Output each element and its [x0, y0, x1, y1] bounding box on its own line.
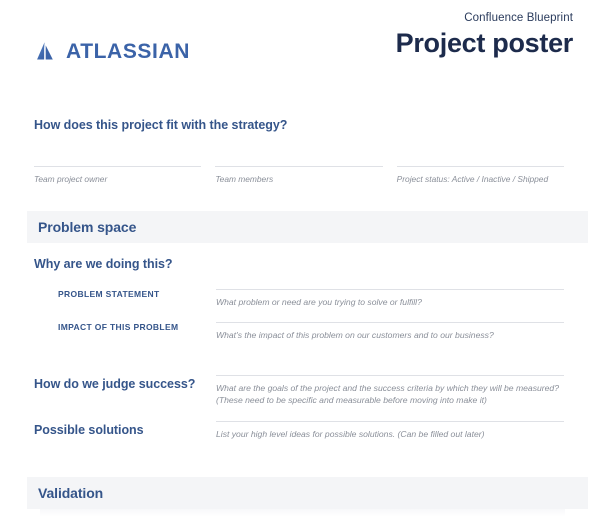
- project-poster-page: ATLASSIAN Confluence Blueprint Project p…: [0, 0, 600, 519]
- problem-statement-input[interactable]: What problem or need are you trying to s…: [216, 289, 564, 308]
- atlassian-logo: ATLASSIAN: [34, 40, 190, 63]
- judge-success-input[interactable]: What are the goals of the project and th…: [216, 375, 564, 407]
- section-band-validation: Validation: [27, 477, 588, 509]
- strategy-question-heading: How does this project fit with the strat…: [34, 118, 287, 132]
- row-problem-statement: PROBLEM STATEMENT What problem or need a…: [34, 289, 564, 308]
- atlassian-logo-icon: [34, 40, 57, 63]
- problem-statement-label: PROBLEM STATEMENT: [58, 289, 216, 299]
- placeholder-text: What problem or need are you trying to s…: [216, 296, 564, 308]
- blueprint-eyebrow: Confluence Blueprint: [396, 12, 573, 26]
- field-caption: Team members: [215, 174, 382, 185]
- row-label: How do we judge success?: [34, 375, 216, 391]
- page-bottom-shadow: [40, 509, 565, 517]
- placeholder-text: List your high level ideas for possible …: [216, 428, 564, 440]
- possible-solutions-input[interactable]: List your high level ideas for possible …: [216, 421, 564, 440]
- row-label: IMPACT OF THIS PROBLEM: [34, 322, 216, 332]
- impact-label: IMPACT OF THIS PROBLEM: [58, 322, 216, 332]
- atlassian-wordmark: ATLASSIAN: [66, 41, 190, 62]
- page-title: Project poster: [396, 28, 573, 59]
- field-caption: Project status: Active / Inactive / Ship…: [397, 174, 564, 185]
- judge-success-heading: How do we judge success?: [34, 377, 216, 391]
- title-block: Confluence Blueprint Project poster: [396, 12, 573, 59]
- impact-input[interactable]: What's the impact of this problem on our…: [216, 322, 564, 341]
- possible-solutions-heading: Possible solutions: [34, 423, 216, 437]
- row-label: Possible solutions: [34, 421, 216, 437]
- field-caption: Team project owner: [34, 174, 201, 185]
- placeholder-text: What are the goals of the project and th…: [216, 382, 564, 407]
- page-header: ATLASSIAN Confluence Blueprint Project p…: [0, 0, 600, 100]
- section-title: Problem space: [38, 219, 136, 235]
- section-title: Validation: [38, 485, 103, 501]
- row-judge-success: How do we judge success? What are the go…: [34, 375, 564, 407]
- field-team-members[interactable]: Team members: [215, 166, 382, 185]
- field-team-project-owner[interactable]: Team project owner: [34, 166, 201, 185]
- row-possible-solutions: Possible solutions List your high level …: [34, 421, 564, 440]
- row-label: PROBLEM STATEMENT: [34, 289, 216, 299]
- placeholder-text: What's the impact of this problem on our…: [216, 329, 564, 341]
- field-project-status[interactable]: Project status: Active / Inactive / Ship…: [397, 166, 564, 185]
- why-question-heading: Why are we doing this?: [34, 257, 173, 271]
- row-impact-of-this-problem: IMPACT OF THIS PROBLEM What's the impact…: [34, 322, 564, 341]
- project-meta-row: Team project owner Team members Project …: [34, 166, 564, 185]
- section-band-problem-space: Problem space: [27, 211, 588, 243]
